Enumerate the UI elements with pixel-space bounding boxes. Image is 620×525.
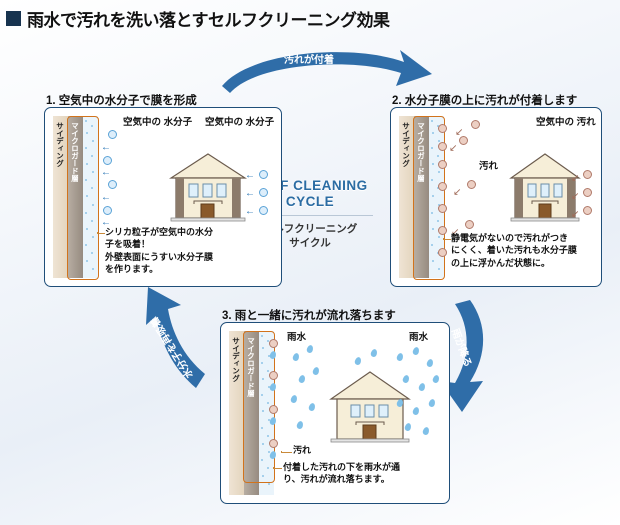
panel-3-drop (269, 382, 277, 391)
panel-3-dirt-washing (269, 371, 278, 380)
panel-3-dirt-washing (269, 405, 278, 414)
panel-1-siding-label: サイディング (56, 122, 64, 167)
panel-1-layer-waterfilm (83, 116, 98, 278)
panel-3-description: 付着した汚れの下を雨水が通 り、汚れが流れ落ちます。 (283, 461, 443, 486)
title-bullet-icon (6, 11, 21, 26)
panel-1-molecule-right (259, 206, 268, 215)
panel-1-molecule (103, 206, 112, 215)
panel-1-molecule (108, 180, 117, 189)
panel-2-dirt-on-film (438, 182, 447, 191)
panel-1-molecule (108, 130, 117, 139)
panel-2-dirt-on-film (438, 160, 447, 169)
panel-2-dirt-incoming (465, 220, 474, 229)
panel-3-dirt-washing (269, 439, 278, 448)
diagram-root: 雨水で汚れを洗い落とすセルフクリーニング効果 汚れが付着 雨が降る 水分子を再吸… (0, 0, 620, 525)
panel-1-leader (97, 232, 105, 234)
panel-2-dirt-right (583, 206, 592, 215)
panel-3-layer-microguard: マイクロガード層 (244, 331, 259, 495)
panel-1-house (169, 152, 247, 224)
panel-3-dirt-washing (269, 339, 278, 348)
panel-1-label-right: 空気中の 水分子 (205, 117, 274, 129)
panel-3-label-dirt: 汚れ (293, 445, 311, 456)
panel-1-house-svg (169, 152, 247, 224)
panel-3-drop (269, 416, 277, 425)
panel-2: サイディング マイクロガード層 (390, 107, 602, 287)
panel-1-molecule-right (259, 188, 268, 197)
panel-2-layer-siding: サイディング (399, 116, 414, 278)
panel-1-layer-siding: サイディング (53, 116, 68, 278)
cycle-label-top: 汚れが付着 (284, 51, 334, 66)
panel-3-dirt-leader (281, 451, 292, 453)
cycle-label-left: 水分子を再吸着 (146, 315, 196, 382)
panel-1-description: シリカ粒子が空気中の水分 子を吸着！ 外壁表面にうすい水分子膜 を作ります。 (105, 226, 280, 276)
panel-2-dirt-on-film (438, 204, 447, 213)
panel-2-dirt-right (583, 188, 592, 197)
panel-3-layer-siding: サイディング (229, 331, 244, 495)
panel-2-dirt-on-film (438, 124, 447, 133)
page-title: 雨水で汚れを洗い落とすセルフクリーニング効果 (6, 6, 390, 31)
panel-2-description: 静電気がないので汚れがつき にくく、着いた汚れも水分子膜 の上に浮かんだ状態に。 (451, 232, 599, 269)
panel-3-label-right: 雨水 (409, 332, 428, 344)
page-title-text: 雨水で汚れを洗い落とすセルフクリーニング効果 (27, 6, 390, 31)
panel-3-title: 3. 雨と一緒に汚れが流れ落ちます (222, 307, 396, 323)
panel-3-drop (269, 450, 277, 459)
panel-2-dirt-on-film (438, 142, 447, 151)
panel-2-dirt-incoming (467, 180, 476, 189)
cycle-label-right: 雨が降る (449, 326, 477, 369)
panel-2-siding-label: サイディング (402, 122, 410, 167)
panel-3: サイディング マイクロガード層 (220, 322, 450, 504)
panel-1-microguard-label: マイクロガード層 (71, 122, 79, 182)
panel-2-dirt-incoming (471, 120, 480, 129)
panel-2-dirt-right (583, 170, 592, 179)
panel-1-molecule (103, 156, 112, 165)
panel-1-title: 1. 空気中の水分子で膜を形成 (46, 92, 197, 108)
panel-1-molecule-right (259, 170, 268, 179)
panel-1: サイディング マイクロガード層 (44, 107, 282, 287)
panel-2-title: 2. 水分子膜の上に汚れが付着します (392, 92, 577, 108)
panel-2-microguard-label: マイクロガード層 (417, 122, 425, 182)
panel-2-label-left: 汚れ (479, 161, 498, 173)
panel-2-layer-microguard: マイクロガード層 (414, 116, 429, 278)
panel-3-wall: サイディング マイクロガード層 (229, 331, 274, 495)
panel-2-dirt-on-film (438, 226, 447, 235)
panel-1-layer-microguard: マイクロガード層 (68, 116, 83, 278)
panel-2-label-right: 空気中の 汚れ (536, 117, 596, 129)
panel-1-film-dots (83, 116, 98, 278)
panel-2-dirt-on-film (438, 248, 447, 257)
panel-3-leader (273, 467, 282, 469)
panel-2-leader (443, 238, 451, 240)
panel-3-siding-label: サイディング (232, 337, 240, 382)
panel-3-microguard-label: マイクロガード層 (247, 337, 255, 397)
panel-1-wall: サイディング マイクロガード層 (53, 116, 98, 278)
panel-3-label-left: 雨水 (287, 332, 306, 344)
panel-3-drop (269, 350, 277, 359)
panel-1-label-left: 空気中の 水分子 (123, 117, 192, 129)
